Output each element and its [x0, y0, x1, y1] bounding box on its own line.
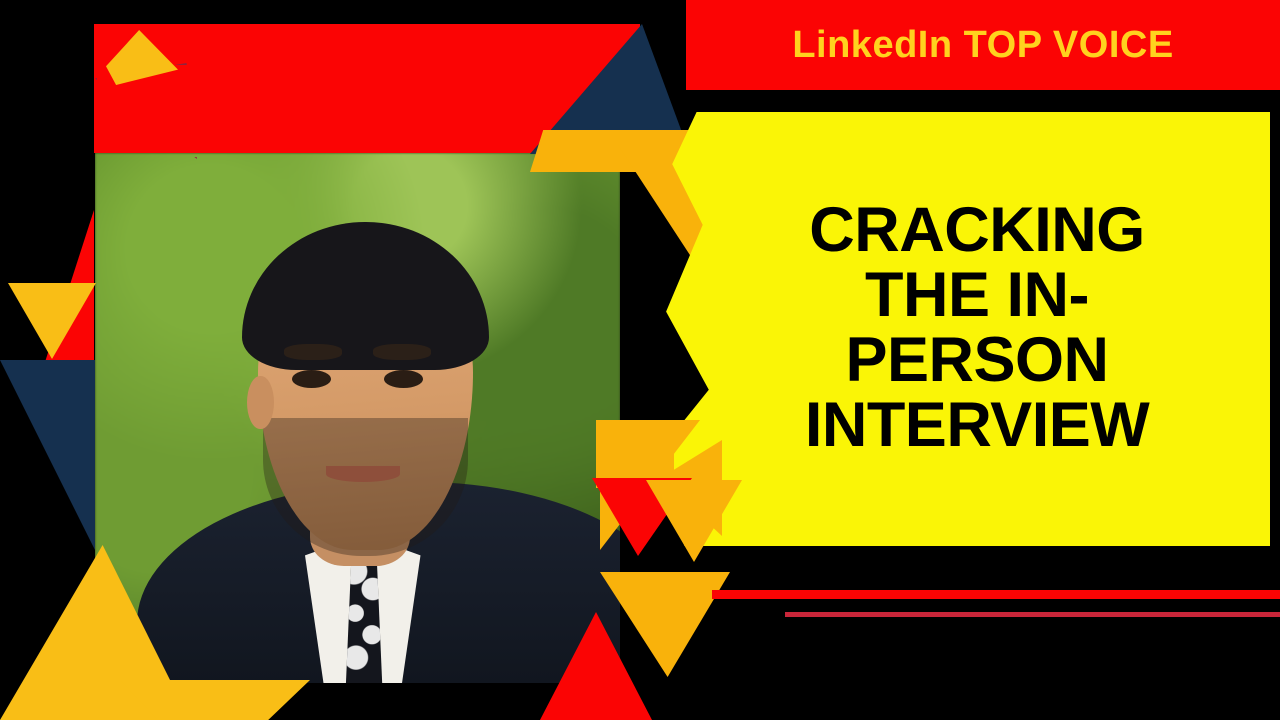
title-line-3: PERSON	[845, 328, 1108, 393]
title-block: CRACKING THE IN- PERSON INTERVIEW	[660, 112, 1270, 546]
thin-red-underline	[785, 612, 1280, 617]
photo-eyebrow-right	[373, 344, 431, 360]
title-line-2: THE IN-	[865, 263, 1089, 328]
video-thumbnail: CRACKING THE IN- PERSON INTERVIEW Linked…	[0, 0, 1280, 720]
photo-ear	[247, 376, 273, 429]
navy-triangle-left-icon	[0, 360, 95, 550]
thick-red-underline	[712, 590, 1280, 599]
speaker-photo	[95, 153, 620, 683]
title-line-1: CRACKING	[809, 198, 1145, 263]
title-line-4: INTERVIEW	[805, 393, 1149, 458]
photo-mouth	[326, 466, 400, 482]
linkedin-top-voice-label: LinkedIn TOP VOICE	[686, 0, 1280, 90]
photo-eyebrow-left	[284, 344, 342, 360]
